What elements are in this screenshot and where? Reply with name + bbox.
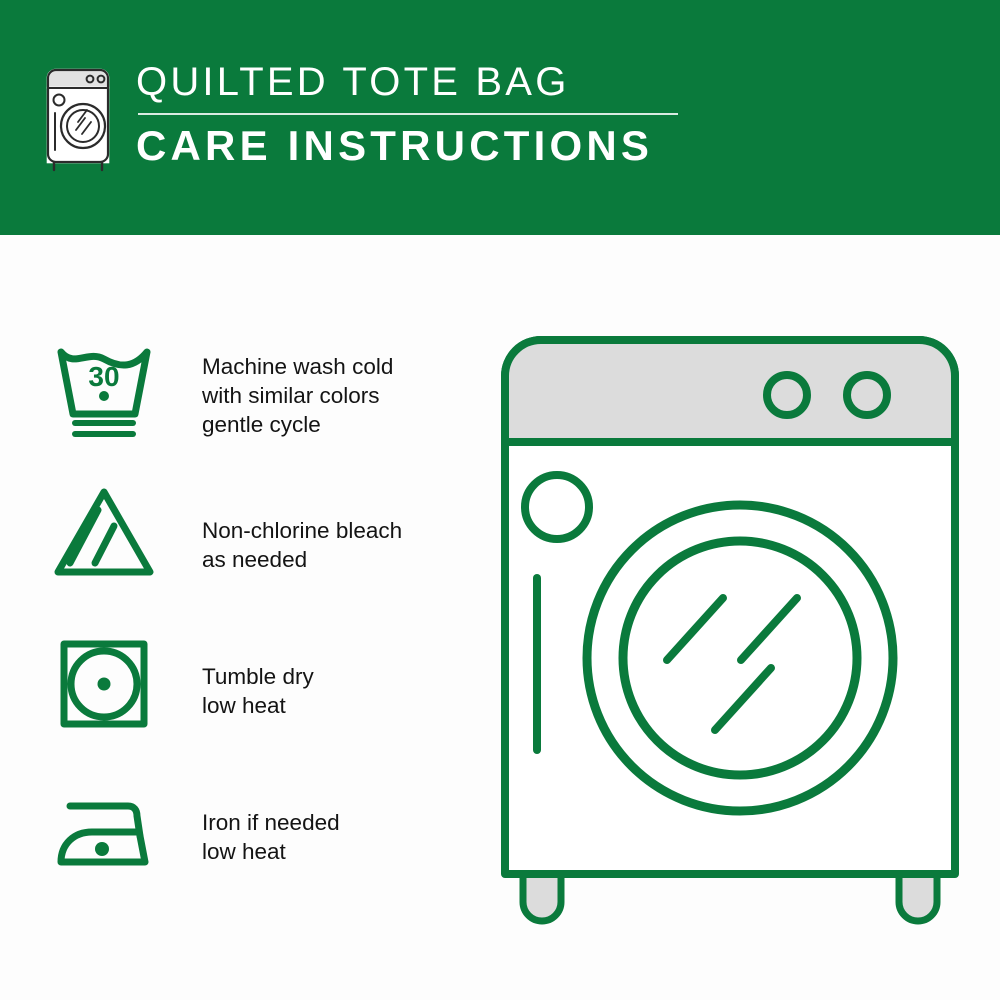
washing-machine-icon [42,64,114,174]
care-item-bleach: Non-chlorine bleach as needed [48,480,478,630]
iron-low-heat-icon [48,780,160,890]
care-item-text: Non-chlorine bleach as needed [202,516,402,574]
page-title: QUILTED TOTE BAG [136,58,678,106]
header-banner: QUILTED TOTE BAG CARE INSTRUCTIONS [0,0,1000,235]
care-item-iron: Iron if needed low heat [48,780,478,930]
tumble-dry-low-heat-icon [48,630,160,740]
large-washing-machine-illustration [495,330,965,930]
wash-temperature-label: 30 [88,361,119,392]
title-divider [138,113,678,115]
care-item-tumble-dry: Tumble dry low heat [48,630,478,780]
wash-tub-30-gentle-icon: 30 [48,330,160,440]
page-subtitle: CARE INSTRUCTIONS [136,121,678,171]
care-instructions-infographic: QUILTED TOTE BAG CARE INSTRUCTIONS 30 Ma… [0,0,1000,1000]
non-chlorine-bleach-triangle-icon [48,480,160,590]
header-content: QUILTED TOTE BAG CARE INSTRUCTIONS [42,58,678,174]
care-instruction-list: 30 Machine wash cold with similar colors… [48,330,478,930]
care-item-text: Tumble dry low heat [202,662,314,720]
care-item-text: Iron if needed low heat [202,808,340,866]
care-item-text: Machine wash cold with similar colors ge… [202,352,393,439]
header-title-block: QUILTED TOTE BAG CARE INSTRUCTIONS [136,58,678,171]
care-item-machine-wash: 30 Machine wash cold with similar colors… [48,330,478,480]
